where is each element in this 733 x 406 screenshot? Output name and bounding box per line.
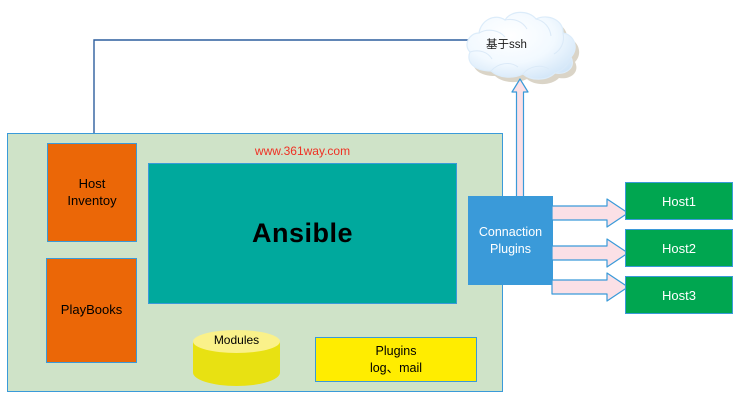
host2-label: Host2	[662, 241, 696, 256]
arrow-to-host1	[551, 198, 629, 228]
connection-plugins-to-cloud-arrow	[510, 78, 530, 200]
arrow-to-host3	[551, 272, 629, 302]
modules-cylinder[interactable]: Modules	[193, 330, 280, 386]
modules-label: Modules	[193, 333, 280, 347]
playbooks-box[interactable]: PlayBooks	[46, 258, 137, 363]
ssh-cloud: 基于ssh	[458, 6, 584, 86]
playbooks-label: PlayBooks	[61, 302, 122, 318]
connection-plugins-box[interactable]: Connaction Plugins	[468, 196, 553, 285]
plugins-label-line2: log、mail	[370, 360, 422, 376]
host2-box[interactable]: Host2	[625, 229, 733, 267]
host1-box[interactable]: Host1	[625, 182, 733, 220]
host3-label: Host3	[662, 288, 696, 303]
plugins-box[interactable]: Plugins log、mail	[315, 337, 477, 382]
host3-box[interactable]: Host3	[625, 276, 733, 314]
cloud-label: 基于ssh	[486, 36, 527, 52]
watermark-text: www.361way.com	[148, 144, 457, 158]
connection-plugins-label-line2: Plugins	[490, 241, 531, 258]
plugins-label-line1: Plugins	[376, 343, 417, 359]
ansible-box[interactable]: Ansible	[148, 163, 457, 304]
connection-plugins-label-line1: Connaction	[479, 224, 542, 241]
arrow-to-host2	[551, 238, 629, 268]
host-inventory-label-line2: Inventoy	[67, 193, 116, 209]
diagram-canvas: 基于ssh www.361way.com Host Inventoy PlayB…	[0, 0, 733, 406]
host1-label: Host1	[662, 194, 696, 209]
host-inventory-label-line1: Host	[67, 176, 116, 192]
host-inventory-box[interactable]: Host Inventoy	[47, 143, 137, 242]
ansible-label: Ansible	[252, 218, 353, 249]
